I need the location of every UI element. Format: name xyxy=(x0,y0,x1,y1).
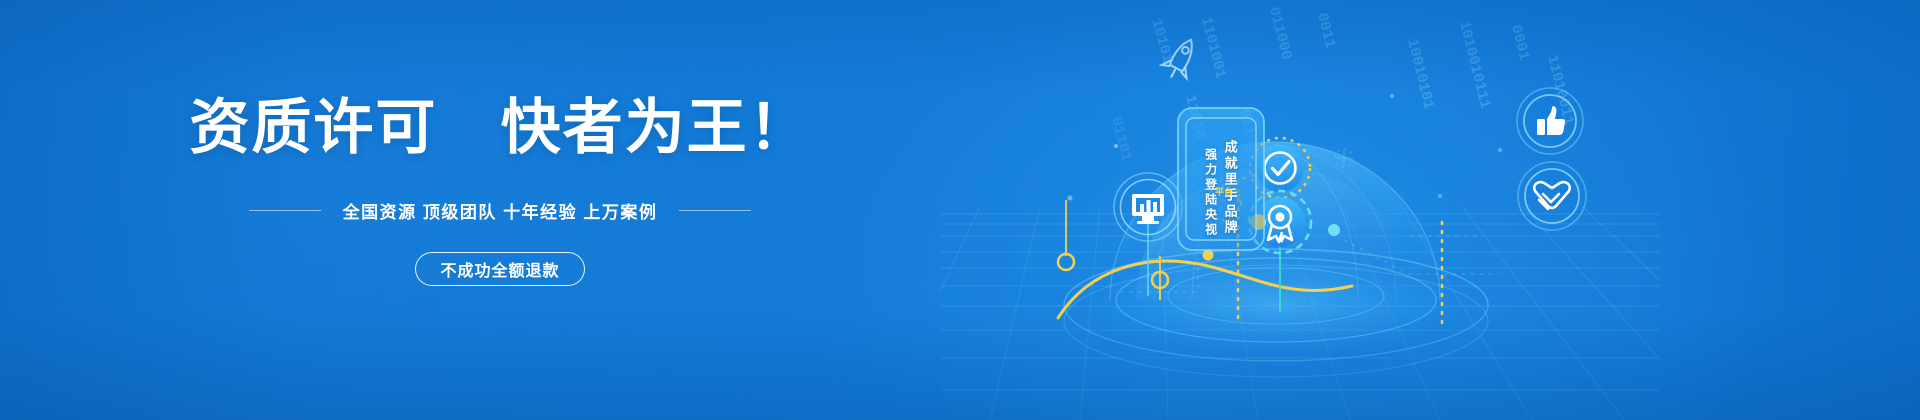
subtitle-row: 全国资源 顶级团队 十年经验 上万案例 xyxy=(0,198,1000,223)
refund-guarantee-button[interactable]: 不成功全额退款 xyxy=(415,252,584,286)
subtitle-text: 全国资源 顶级团队 十年经验 上万案例 xyxy=(343,198,658,223)
cta-container: 不成功全额退款 xyxy=(0,252,1000,286)
page-title: 资质许可 快者为王！ xyxy=(0,98,1000,158)
copy-block: 资质许可 快者为王！ 全国资源 顶级团队 十年经验 上万案例 不成功全额退款 xyxy=(0,0,1000,420)
divider-line-left xyxy=(249,210,321,211)
headline-right: 快者为王！ xyxy=(501,94,811,161)
promo-banner: 10101 1101001 011000 011000 0011 1001010… xyxy=(0,0,1920,420)
divider-line-right xyxy=(679,210,751,211)
headline-left: 资质许可 xyxy=(189,94,437,161)
